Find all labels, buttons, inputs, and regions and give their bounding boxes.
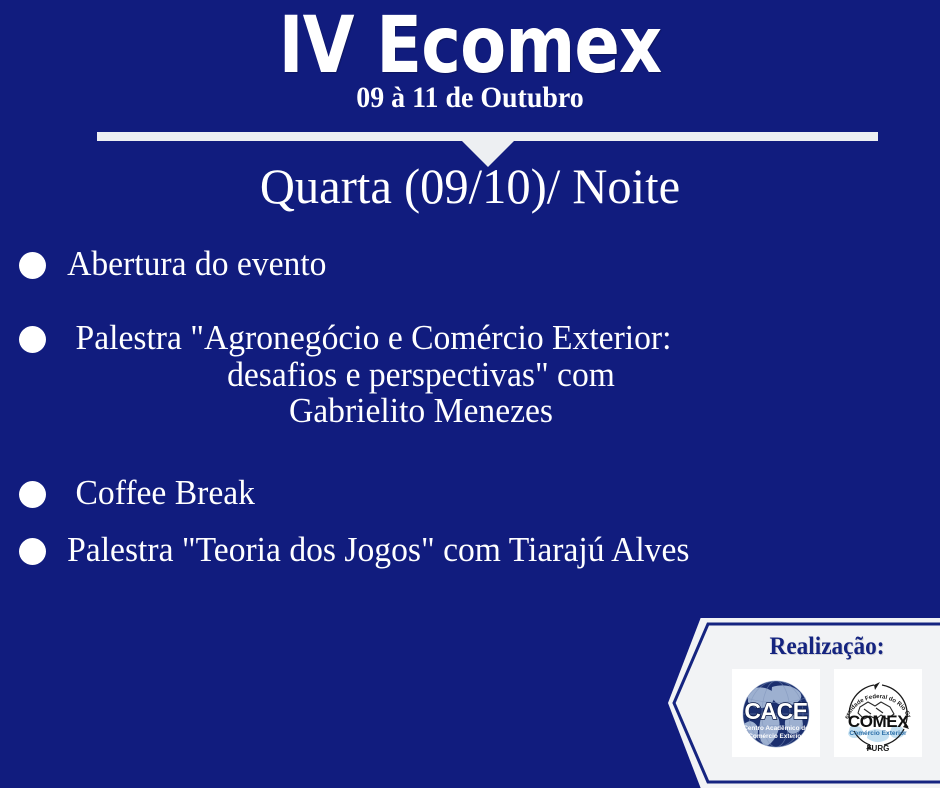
- list-item-label: Coffee Break: [46, 475, 904, 511]
- svg-text:Centro Acadêmico de: Centro Acadêmico de: [743, 725, 809, 732]
- event-dates: 09 à 11 de Outubro: [33, 82, 907, 114]
- bullet-placeholder: [19, 363, 46, 390]
- realizacao-label: Realização:: [722, 618, 932, 659]
- list-item: Palestra "Teoria dos Jogos" com Tiarajú …: [0, 532, 940, 568]
- list-item-label: Palestra "Agronegócio e Comércio Exterio…: [46, 320, 904, 356]
- divider-bar: [97, 132, 878, 141]
- spacer: [0, 282, 940, 320]
- list-item-label: Abertura do evento: [46, 246, 904, 282]
- poster-header: IV Ecomex 09 à 11 de Outubro: [0, 0, 940, 114]
- agenda-list: Abertura do evento Palestra "Agronegócio…: [0, 246, 940, 568]
- page-title: IV Ecomex: [66, 0, 874, 84]
- svg-text:Comércio Exterior: Comércio Exterior: [748, 733, 804, 740]
- svg-text:FURG: FURG: [867, 744, 890, 753]
- list-item-label: Palestra "Teoria dos Jogos" com Tiarajú …: [46, 532, 904, 568]
- logo-row: CACE Centro Acadêmico de Comércio Exteri…: [714, 669, 940, 757]
- bullet-icon: [19, 538, 46, 565]
- spacer: [0, 430, 940, 475]
- list-item: Palestra "Agronegócio e Comércio Exterio…: [0, 320, 940, 356]
- cace-logo: CACE Centro Acadêmico de Comércio Exteri…: [732, 669, 820, 757]
- bullet-icon: [19, 481, 46, 508]
- comex-furg-logo: Universidade Federal do Rio Grande COMEX…: [834, 669, 922, 757]
- bullet-icon: [19, 252, 46, 279]
- list-item-label: desafios e perspectivas" com: [64, 357, 922, 393]
- panel-content: Realização:: [714, 618, 940, 788]
- bullet-placeholder: [19, 399, 46, 426]
- list-item-continuation: desafios e perspectivas" com: [0, 357, 940, 393]
- list-item-continuation: Gabrielito Menezes: [0, 393, 940, 429]
- event-poster: IV Ecomex 09 à 11 de Outubro Quarta (09/…: [0, 0, 940, 788]
- session-heading: Quarta (09/10)/ Noite: [14, 160, 926, 213]
- svg-text:CACE: CACE: [744, 698, 807, 724]
- svg-text:COMEX: COMEX: [848, 712, 909, 731]
- comex-handshake-icon: Universidade Federal do Rio Grande COMEX…: [834, 669, 922, 757]
- list-item-label: Gabrielito Menezes: [64, 393, 922, 429]
- svg-text:Comércio Exterior: Comércio Exterior: [849, 730, 907, 737]
- bullet-icon: [19, 326, 46, 353]
- cace-globe-icon: CACE Centro Acadêmico de Comércio Exteri…: [732, 669, 820, 757]
- list-item: Abertura do evento: [0, 246, 940, 282]
- spacer: [0, 511, 940, 532]
- list-item: Coffee Break: [0, 475, 940, 511]
- realizacao-panel: Realização:: [668, 618, 940, 788]
